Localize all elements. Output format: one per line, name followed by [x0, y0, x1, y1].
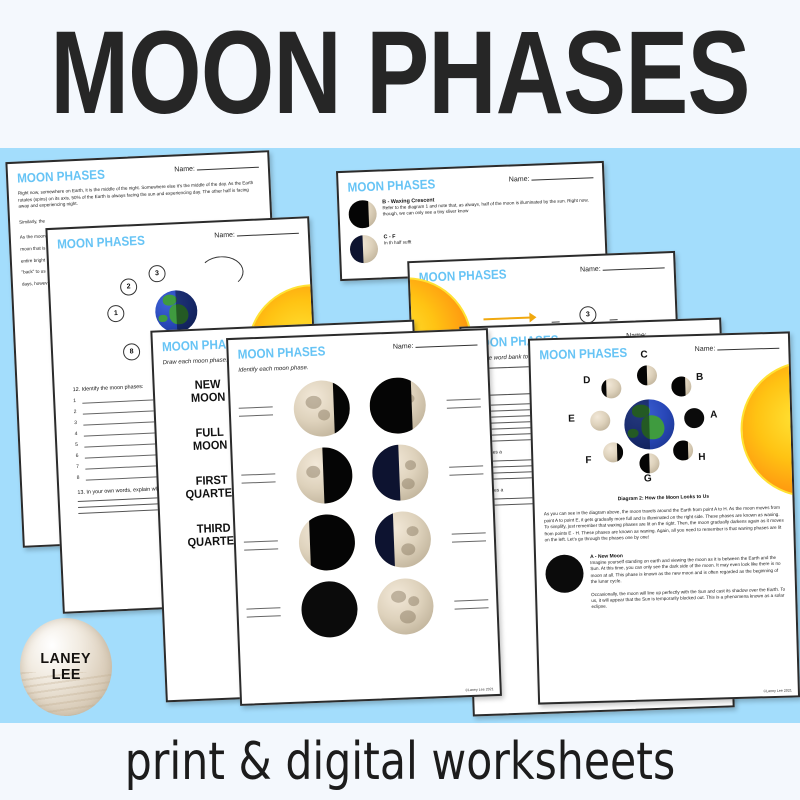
- moon-photo-6: [374, 510, 432, 568]
- identify-row-1: [229, 364, 489, 440]
- orbit-point-1: 1: [107, 305, 125, 323]
- label-g: G: [644, 473, 652, 484]
- phase-section-a: A - New Moon Imagine yourself standing o…: [536, 537, 796, 612]
- moon-photo-7: [300, 580, 358, 638]
- name-field[interactable]: Name:: [509, 170, 594, 183]
- label-e: E: [568, 413, 575, 424]
- moon-new-moon-icon: [545, 554, 584, 593]
- answer-lines-right[interactable]: [449, 465, 483, 475]
- brand-logo: LANEY LEE: [20, 618, 112, 716]
- moon-photo-5: [298, 513, 356, 571]
- moon-position-c: [637, 365, 658, 386]
- name-field[interactable]: Name:: [580, 260, 665, 273]
- worksheet-identify-phases[interactable]: MOON PHASES Name: Identify each moon pha…: [226, 328, 502, 706]
- copyright-text: ©Laney Lee 2021: [763, 688, 792, 693]
- moon-photo-1: [292, 379, 350, 437]
- name-field[interactable]: Name:: [214, 226, 299, 240]
- answer-lines-left[interactable]: [244, 540, 278, 550]
- moon-position-g: [639, 453, 660, 474]
- moon-position-h: [673, 440, 694, 461]
- section-body-a1: Imagine yourself standing on earth and v…: [590, 555, 786, 586]
- orbit-point-2: 2: [120, 278, 138, 296]
- page-subtitle: print & digital worksheets: [72, 726, 728, 798]
- answer-lines-right[interactable]: [447, 398, 481, 408]
- name-field[interactable]: Name:: [695, 341, 780, 353]
- name-field[interactable]: Name:: [393, 338, 478, 351]
- label-h: H: [698, 452, 706, 463]
- moon-position-f: [603, 442, 624, 463]
- identify-row-4: [237, 564, 497, 641]
- moon-photo-8: [377, 577, 435, 635]
- moon-photo-3: [295, 446, 353, 504]
- moon-phase-diagram: A B C D E F G H: [531, 355, 793, 492]
- moon-photo-4: [372, 444, 430, 502]
- label-d: D: [583, 375, 591, 386]
- moon-photo-2: [369, 377, 427, 435]
- label-c: C: [640, 349, 648, 360]
- orbit-point-8: 8: [123, 343, 141, 361]
- identify-row-2: [232, 430, 492, 507]
- earth-globe: [624, 399, 675, 450]
- answer-lines-left[interactable]: [239, 406, 273, 416]
- logo-line-2: LEE: [51, 667, 80, 683]
- identify-row-3: [235, 497, 495, 574]
- section-body-a2: Occasionally, the moon will line up perf…: [591, 586, 786, 611]
- page-title: MOON PHASES: [80, 8, 720, 138]
- answer-lines-right[interactable]: [452, 532, 486, 542]
- logo-line-1: LANEY: [41, 651, 92, 667]
- product-cover: MOON PHASES print & digital worksheets M…: [0, 0, 800, 800]
- moon-position-a: [684, 408, 705, 429]
- moon-position-e: [590, 410, 611, 431]
- answer-lines-left[interactable]: [241, 473, 275, 483]
- copyright-text: ©Laney Lee 2021: [465, 687, 494, 692]
- light-arrow-head-icon: [529, 312, 536, 322]
- earth-globe: [154, 289, 198, 333]
- answer-lines-left[interactable]: [246, 607, 280, 617]
- arc-decoration: [199, 255, 244, 289]
- name-field[interactable]: Name:: [174, 160, 259, 174]
- worksheet-diagram2[interactable]: MOON PHASES Name: A B C D E: [528, 331, 800, 704]
- moon-waxing-crescent-icon: [348, 200, 377, 229]
- sun-graphic: [739, 359, 800, 499]
- moon-position-b: [671, 376, 692, 397]
- label-b: B: [696, 372, 704, 383]
- label-a: A: [710, 409, 718, 420]
- moon-first-quarter-icon: [349, 235, 378, 264]
- light-arrow-icon: [483, 316, 531, 320]
- moon-position-d: [601, 378, 622, 399]
- answer-lines-right[interactable]: [454, 599, 488, 609]
- orbit-point-3: 3: [148, 265, 166, 283]
- label-f: F: [585, 455, 591, 466]
